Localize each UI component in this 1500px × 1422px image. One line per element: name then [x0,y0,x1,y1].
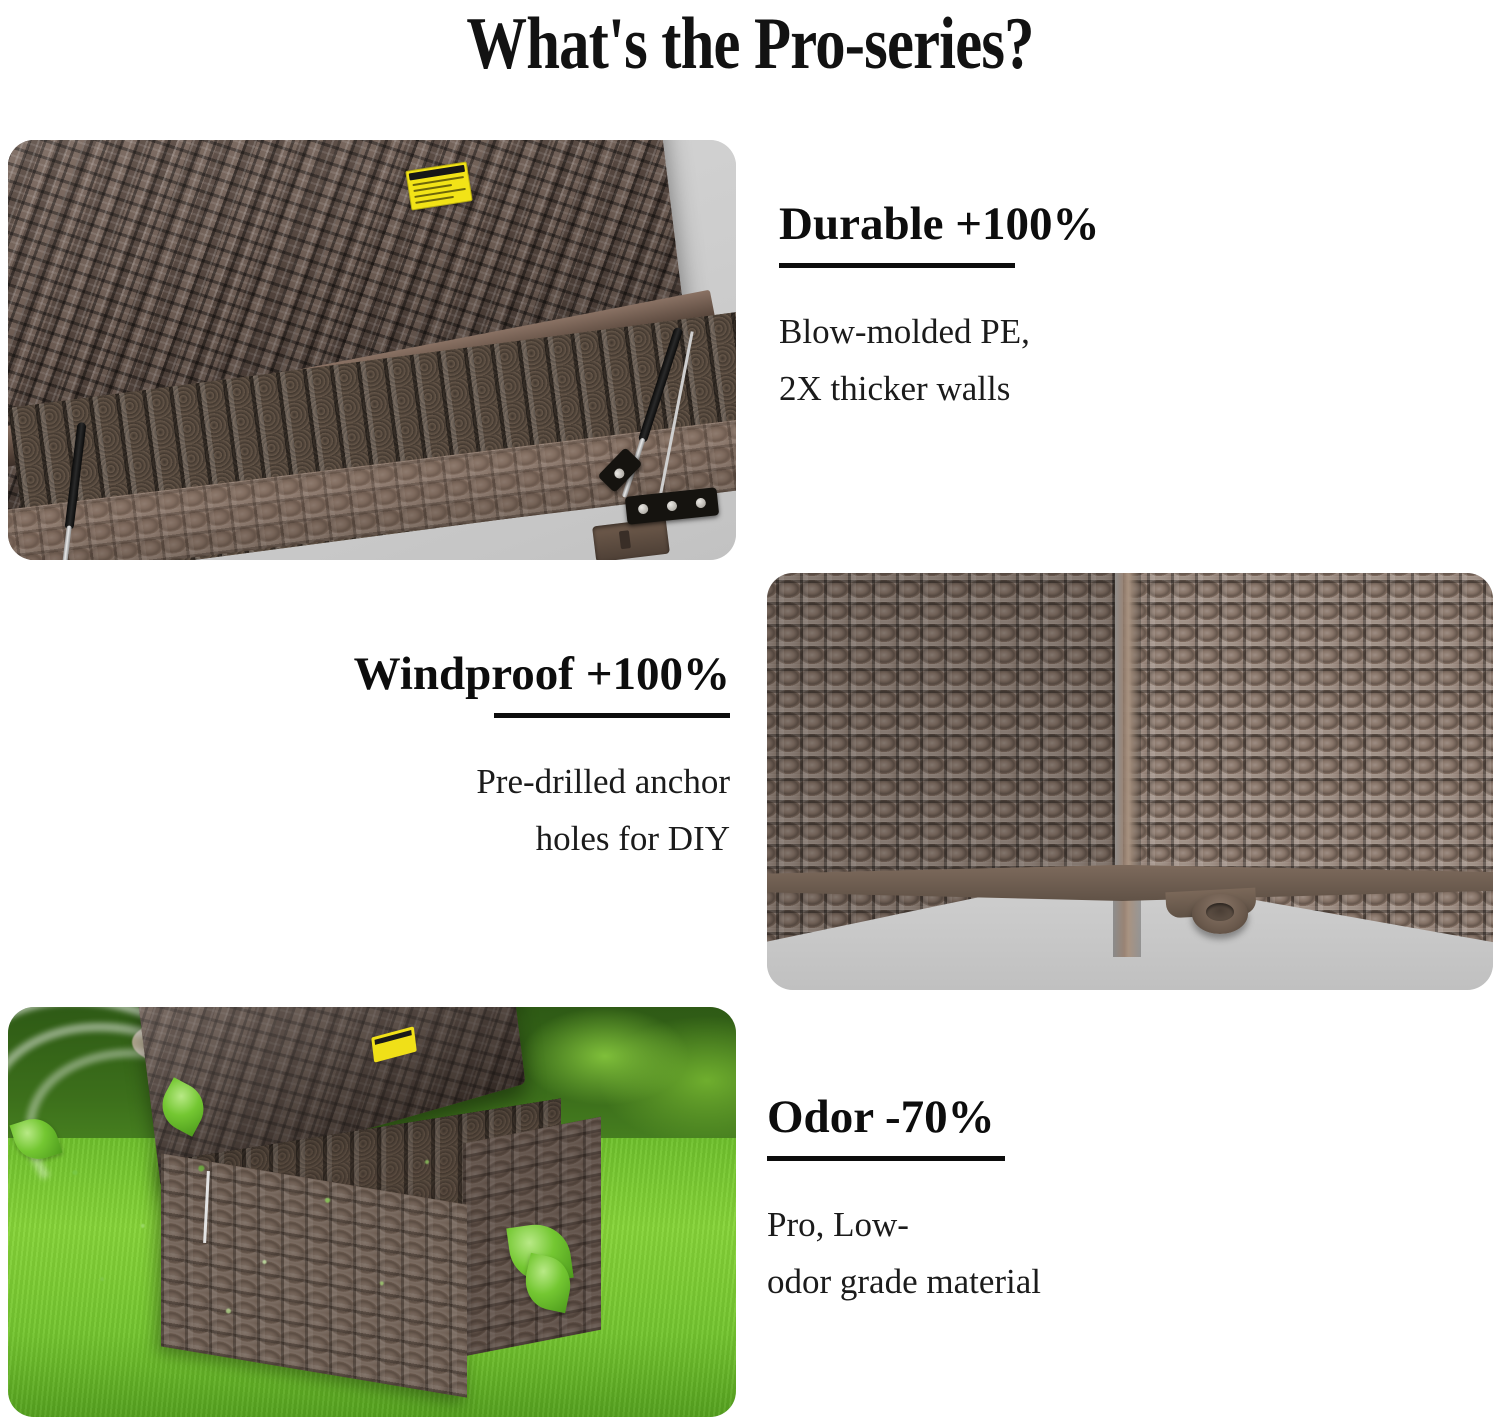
feature-block-odor: Odor -70% Pro, Low- odor grade material [767,1093,1237,1310]
odor-particle-field [30,1130,481,1343]
product-image-lawn-scene [8,1007,736,1417]
infographic-page: What's the Pro-series? [0,0,1500,1422]
feature-block-windproof: Windproof +100% Pre-drilled anchor holes… [270,650,730,867]
hinge-screw [612,466,626,480]
feature-heading-odor: Odor -70% [767,1093,1237,1142]
feature-underline-durable [779,263,1015,268]
feature-underline-odor [767,1156,1005,1161]
page-title: What's the Pro-series? [135,2,1365,87]
feature-body-line: odor grade material [767,1254,1237,1311]
hinge-screw [638,504,649,515]
feature-body-line: 2X thicker walls [779,361,1249,418]
feature-block-durable: Durable +100% Blow-molded PE, 2X thicker… [779,200,1249,417]
feature-body-line: Pre-drilled anchor [270,754,730,811]
feature-body-windproof: Pre-drilled anchor holes for DIY [270,754,730,867]
warning-label-text-line [415,196,454,204]
product-image-open-lid [8,140,736,560]
feature-body-line: holes for DIY [270,811,730,868]
product-image-woven-corner [767,573,1493,990]
feature-body-line: Pro, Low- [767,1197,1237,1254]
hinge-screw [695,497,706,508]
feature-heading-windproof: Windproof +100% [270,650,730,699]
feature-body-line: Blow-molded PE, [779,304,1249,361]
feature-underline-windproof [494,713,730,718]
feature-heading-durable: Durable +100% [779,200,1249,249]
hinge-screw [667,501,678,512]
feature-body-odor: Pro, Low- odor grade material [767,1197,1237,1310]
pre-drilled-anchor-hole [1192,894,1248,934]
feature-body-durable: Blow-molded PE, 2X thicker walls [779,304,1249,417]
